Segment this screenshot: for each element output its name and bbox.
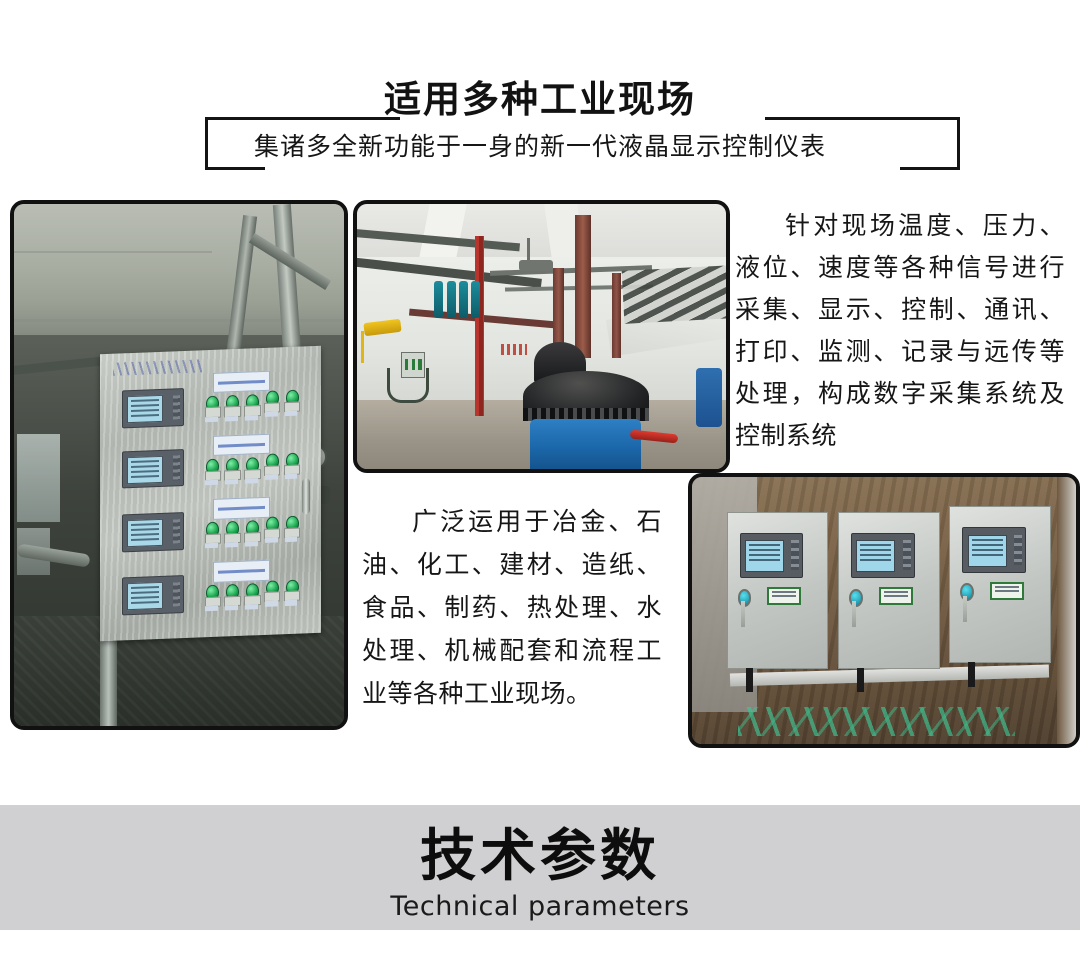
photo1-indicator-lamp bbox=[263, 580, 278, 601]
photo2-pipe-stack-right bbox=[612, 273, 621, 358]
photo3-cabinet-3-label bbox=[990, 582, 1024, 600]
stainless-control-panel-photo bbox=[10, 200, 348, 730]
photo3-recorder-1-buttons bbox=[791, 540, 799, 570]
photo3-cabinet-2-label bbox=[879, 587, 913, 605]
photo1-window-light bbox=[17, 434, 60, 523]
photo1-recorder-1-buttons bbox=[172, 395, 179, 420]
middle-description-paragraph: 广泛运用于冶金、石油、化工、建材、造纸、食品、制药、热处理、水处理、机械配套和流… bbox=[362, 500, 662, 715]
photo3-recorder-1-lcd bbox=[745, 540, 784, 572]
photo1-indicator-lamp bbox=[204, 585, 219, 606]
photo2-ceiling-fan bbox=[519, 260, 553, 271]
photo3-cabinet-1-label bbox=[767, 587, 801, 605]
photo1-recorder-4-buttons bbox=[172, 582, 179, 607]
photo2-scene bbox=[357, 204, 726, 469]
photo1-cabinet-handle bbox=[302, 478, 310, 514]
photo1-recorder-4-lcd bbox=[126, 582, 163, 611]
photo3-scene bbox=[692, 477, 1076, 744]
photo1-indicator-lamp bbox=[224, 521, 239, 542]
photo1-indicator-lamp bbox=[224, 584, 239, 605]
photo3-recorder-2-lcd bbox=[856, 540, 895, 572]
photo2-stairs bbox=[621, 265, 730, 324]
product-detail-page: 适用多种工业现场 集诸多全新功能于一身的新一代液晶显示控制仪表 bbox=[0, 0, 1080, 973]
photo1-indicator-lamp bbox=[244, 394, 259, 415]
page-header: 适用多种工业现场 集诸多全新功能于一身的新一代液晶显示控制仪表 bbox=[0, 0, 1080, 190]
photo1-scene bbox=[14, 204, 344, 726]
photo3-wall-graffiti bbox=[738, 707, 1014, 736]
photo1-recorder-2 bbox=[122, 449, 184, 489]
photo1-indicator-lamp bbox=[204, 459, 219, 480]
header-bracket-left-bottom-line bbox=[205, 167, 265, 170]
photo3-recorder-3 bbox=[962, 527, 1026, 572]
photo1-recorder-3 bbox=[122, 512, 184, 552]
photo1-indicator-lamp bbox=[224, 395, 239, 416]
photo2-main-riser-pipe bbox=[575, 215, 591, 358]
photo3-wall-edge bbox=[1057, 477, 1076, 744]
photo3-cabinet-2 bbox=[838, 512, 940, 669]
photo1-indicator-lamp bbox=[283, 390, 298, 411]
photo1-indicator-lamp bbox=[283, 516, 298, 537]
photo1-recorder-2-lcd bbox=[126, 456, 163, 485]
photo1-indicator-lamp bbox=[244, 457, 259, 478]
photo2-wall-sign bbox=[501, 344, 527, 355]
photo2-reactor-body bbox=[530, 419, 641, 469]
photo1-indicator-lamp bbox=[263, 454, 278, 475]
page-title: 适用多种工业现场 bbox=[0, 78, 1080, 122]
photo1-recorder-1-lcd bbox=[126, 395, 163, 424]
photo2-hose-loop bbox=[387, 368, 430, 403]
photo1-indicator-lamp bbox=[244, 521, 259, 542]
photo1-indicator-lamp bbox=[244, 584, 259, 605]
photo3-cabinet-3-key bbox=[963, 596, 967, 622]
photo3-recorder-3-buttons bbox=[1014, 535, 1022, 565]
photo3-cabinet-1-key bbox=[741, 601, 745, 627]
banner-title-en: Technical parameters bbox=[0, 891, 1080, 923]
photo2-fan-rod bbox=[527, 238, 530, 262]
technical-parameters-banner: 技术参数 Technical parameters bbox=[0, 805, 1080, 930]
header-bracket-right-bottom-line bbox=[900, 167, 960, 170]
photo2-blue-drum bbox=[696, 368, 722, 426]
photo3-recorder-2 bbox=[851, 533, 915, 578]
photo3-cabinet-2-key bbox=[852, 601, 856, 627]
right-description-paragraph: 针对现场温度、压力、液位、速度等各种信号进行采集、显示、控制、通讯、打印、监测、… bbox=[735, 205, 1065, 457]
photo3-cabinet-3-bracket bbox=[968, 662, 975, 687]
photo1-label-strip-4 bbox=[213, 560, 270, 583]
chemical-workshop-photo bbox=[353, 200, 730, 473]
photo2-red-column-shadow bbox=[479, 236, 483, 416]
photo1-recorder-3-buttons bbox=[172, 519, 179, 544]
photo1-indicator-lamp bbox=[204, 396, 219, 417]
wall-mounted-cabinets-photo bbox=[688, 473, 1080, 748]
photo1-indicator-lamp bbox=[283, 453, 298, 474]
photo1-indicator-lamp bbox=[283, 579, 298, 600]
photo1-label-strip-1 bbox=[213, 371, 270, 394]
photo1-label-strip-2 bbox=[213, 434, 270, 457]
banner-title-cn: 技术参数 bbox=[0, 826, 1080, 888]
photo1-indicator-lamp bbox=[204, 522, 219, 543]
photo1-label-strip-3 bbox=[213, 497, 270, 520]
photo1-indicator-lamp bbox=[263, 391, 278, 412]
photo3-cabinet-1 bbox=[727, 512, 829, 669]
photo3-cabinet-1-bracket bbox=[746, 668, 753, 693]
photo3-recorder-2-buttons bbox=[903, 540, 911, 570]
photo1-wall-seam bbox=[14, 251, 212, 253]
photo3-cabinet-3 bbox=[949, 506, 1051, 663]
photo1-recorder-4 bbox=[122, 575, 184, 615]
photo3-cabinet-2-bracket bbox=[857, 668, 864, 693]
photo2-valve-bank bbox=[434, 281, 489, 318]
photo1-indicator-lamp bbox=[263, 517, 278, 538]
photo3-recorder-1 bbox=[740, 533, 804, 578]
photo1-recorder-3-lcd bbox=[126, 519, 163, 548]
photo2-emergency-shower-arm bbox=[361, 331, 364, 363]
photo1-stainless-cabinet bbox=[100, 346, 321, 642]
photo1-indicator-lamp bbox=[224, 458, 239, 479]
photo3-recorder-3-lcd bbox=[968, 535, 1007, 567]
photo1-recorder-1 bbox=[122, 388, 184, 428]
photo1-recorder-2-buttons bbox=[172, 456, 179, 481]
page-subtitle: 集诸多全新功能于一身的新一代液晶显示控制仪表 bbox=[0, 130, 1080, 164]
